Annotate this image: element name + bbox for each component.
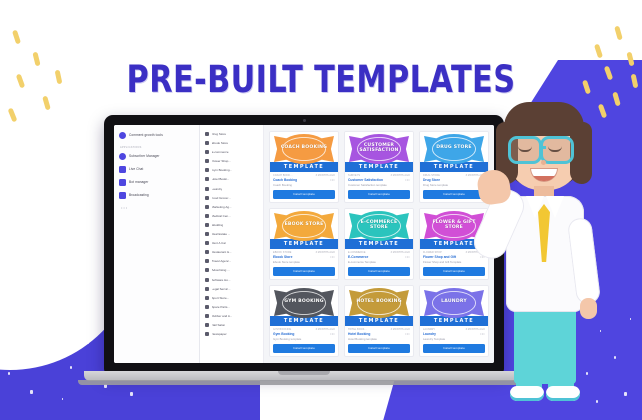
category-item[interactable]: Software Ho... [205, 278, 259, 282]
user-circle-icon [119, 153, 126, 160]
mascot-nose [541, 160, 546, 165]
category-thumb-icon [205, 323, 209, 327]
install-template-button[interactable]: Install template [348, 267, 410, 275]
card-category: EBOOK STORE [273, 251, 291, 254]
category-item[interactable]: Nail Salon [205, 323, 259, 327]
category-item[interactable]: Gym Booking... [205, 168, 259, 172]
sidebar-item-label: Live Chat [129, 168, 143, 171]
mascot-leg-left [516, 332, 542, 394]
category-item[interactable]: Wedding [205, 223, 259, 227]
category-thumb-icon [205, 196, 209, 200]
category-label: Drug Store [212, 132, 227, 136]
category-label: Laundry [212, 187, 223, 191]
webcam-icon [303, 119, 306, 122]
card-category: GYM BOOKING [273, 328, 291, 331]
category-label: Medical Cen... [212, 214, 231, 218]
ribbon-title: E-COMMERCE STORE [351, 221, 407, 231]
card-category: FLOWER SHOP [423, 251, 442, 254]
category-item[interactable]: Marketing Ag... [205, 205, 259, 209]
template-ribbon: E-COMMERCE STORE [345, 209, 413, 239]
confetti-speck [58, 318, 60, 321]
category-item[interactable]: Legal Servic... [205, 287, 259, 291]
template-ribbon: GYM BOOKING [270, 286, 338, 316]
card-category: E-COMMERCE [348, 251, 366, 254]
template-ribbon: HOTEL BOOKING [345, 286, 413, 316]
mascot-mouth [530, 168, 558, 182]
confetti-speck [46, 304, 48, 307]
mascot-shoe-left [510, 386, 544, 401]
card-timestamp: 3 MONTHS AGO [391, 328, 410, 331]
category-thumb-icon [205, 141, 209, 145]
category-item[interactable]: Hotel Booki... [205, 177, 259, 181]
robot-icon [119, 179, 126, 186]
template-card[interactable]: CUSTOMER SATISFACTIONTEMPLATESURVEYS3 MO… [344, 131, 414, 203]
category-label: Food Grocer... [212, 196, 231, 200]
broadcast-icon [119, 192, 126, 199]
install-template-button[interactable]: Install template [273, 344, 335, 352]
category-label: Newspaper [212, 332, 227, 336]
mascot-glasses-left [508, 136, 542, 164]
card-timestamp: 3 MONTHS AGO [316, 328, 335, 331]
category-label: Real Estate ... [212, 232, 231, 236]
ribbon-title: FLOWER & GIFT STORE [426, 221, 482, 231]
category-thumb-icon [205, 332, 209, 336]
confetti-speck [30, 390, 33, 394]
template-card-grid: COACH BOOKINGTEMPLATECOACH BOOK...3 MONT… [264, 125, 494, 363]
category-label: Ebook Store [212, 141, 229, 145]
card-subtitle: Ebook Store template [270, 259, 338, 267]
category-label: Gym Booking... [212, 168, 233, 172]
category-thumb-icon [205, 223, 209, 227]
install-template-button[interactable]: Install template [273, 190, 335, 198]
confetti-speck [40, 352, 42, 355]
category-item[interactable]: Food Grocer... [205, 196, 259, 200]
sidebar-item-0[interactable]: Subscriber Manager [119, 153, 194, 160]
category-thumb-icon [205, 159, 209, 163]
category-label: Wedding [212, 223, 224, 227]
template-gallery-app: Comment growth tools APPLICATIONS Subscr… [114, 125, 494, 363]
confetti-speck [18, 330, 21, 334]
category-thumb-icon [205, 305, 209, 309]
sidebar-item-label: Subscriber Manager [129, 155, 160, 158]
laptop-base-notch [278, 371, 330, 375]
install-template-button[interactable]: Install template [348, 190, 410, 198]
ribbon-title: LAUNDRY [441, 300, 467, 305]
category-thumb-icon [205, 250, 209, 254]
confetti-speck [624, 392, 627, 396]
template-ribbon: EBOOK STORE [270, 209, 338, 239]
template-card[interactable]: E-COMMERCE STORETEMPLATEE-COMMERCE3 MONT… [344, 208, 414, 280]
confetti-speck [86, 340, 89, 344]
laptop-screen: Comment growth tools APPLICATIONS Subscr… [114, 125, 494, 363]
card-category: DRUG STORE [423, 174, 440, 177]
confetti-speck [130, 392, 133, 396]
category-label: Spare Parts... [212, 305, 230, 309]
confetti-speck [62, 398, 63, 400]
category-thumb-icon [205, 232, 209, 236]
template-card[interactable]: HOTEL BOOKINGTEMPLATEHOTEL BOOK...3 MONT… [344, 285, 414, 357]
ribbon-title: HOTEL BOOKING [356, 300, 401, 305]
promo-stage: PRE-BUILT TEMPLATES Comment growth tools… [0, 0, 642, 420]
category-label: Legal Servic... [212, 287, 231, 291]
category-label: Travel Agenc... [212, 259, 232, 263]
category-thumb-icon [205, 150, 209, 154]
card-subtitle: Hotel Booking template [345, 336, 413, 344]
category-item[interactable]: Rent A Car [205, 241, 259, 245]
category-thumb-icon [205, 259, 209, 263]
ribbon-title: CUSTOMER SATISFACTION [351, 144, 407, 154]
category-label: E-commerce [212, 150, 229, 154]
mascot-shoe-right [546, 386, 580, 401]
template-card[interactable]: GYM BOOKINGTEMPLATEGYM BOOKING3 MONTHS A… [269, 285, 339, 357]
category-item[interactable]: Newspaper [205, 332, 259, 336]
install-template-button[interactable]: Install template [273, 267, 335, 275]
mascot-leg-right [548, 332, 574, 394]
card-category: COACH BOOK... [273, 174, 293, 177]
card-timestamp: 3 MONTHS AGO [316, 174, 335, 177]
category-label: Software Ho... [212, 278, 231, 282]
template-ribbon: CUSTOMER SATISFACTION [345, 132, 413, 162]
confetti-speck [12, 300, 14, 303]
category-label: Rubber and A... [212, 314, 233, 318]
ribbon-title: EBOOK STORE [285, 223, 324, 228]
card-category: HOTEL BOOK... [348, 328, 367, 331]
category-item[interactable]: Medical Cen... [205, 214, 259, 218]
template-card[interactable]: COACH BOOKINGTEMPLATECOACH BOOK...3 MONT… [269, 131, 339, 203]
chat-icon [119, 166, 126, 173]
template-ribbon: COACH BOOKING [270, 132, 338, 162]
category-thumb-icon [205, 177, 209, 181]
card-subtitle: E-commerce Template [345, 259, 413, 267]
category-item[interactable]: Flower Shop... [205, 159, 259, 163]
mascot-character [468, 92, 618, 402]
category-thumb-icon [205, 278, 209, 282]
card-subtitle: Gym Booking template [270, 336, 338, 344]
card-timestamp: 3 MONTHS AGO [391, 174, 410, 177]
sidebar-item-1[interactable]: Live Chat [119, 166, 194, 173]
category-label: Marketing Ag... [212, 205, 232, 209]
category-thumb-icon [205, 214, 209, 218]
card-timestamp: 3 MONTHS AGO [391, 251, 410, 254]
category-item[interactable]: E-commerce [205, 150, 259, 154]
sidebar-more-icon[interactable]: ••• [121, 205, 194, 210]
mascot-glasses-bridge [540, 146, 546, 149]
category-item[interactable]: Sport Store... [205, 296, 259, 300]
category-item[interactable]: Restaurant &... [205, 250, 259, 254]
category-thumb-icon [205, 205, 209, 209]
category-thumb-icon [205, 296, 209, 300]
category-label: Rent A Car [212, 241, 227, 245]
install-template-button[interactable]: Install template [348, 344, 410, 352]
laptop-base-shadow [78, 380, 530, 385]
category-thumb-icon [205, 132, 209, 136]
category-thumb-icon [205, 187, 209, 191]
category-item[interactable]: Real Estate ... [205, 232, 259, 236]
ribbon-title: DRUG STORE [436, 146, 471, 151]
ribbon-title: GYM BOOKING [284, 300, 324, 305]
card-timestamp: 3 MONTHS AGO [316, 251, 335, 254]
confetti-speck [630, 318, 631, 320]
category-thumb-icon [205, 241, 209, 245]
mascot-hand-right [580, 298, 597, 319]
category-thumb-icon [205, 314, 209, 318]
card-subtitle: Coach Booking [270, 182, 338, 190]
sidebar-brand[interactable]: Comment growth tools [119, 132, 194, 139]
sidebar-item-label: Broadcasting [129, 194, 149, 197]
growth-tools-icon [119, 132, 126, 139]
category-item[interactable]: Travel Agenc... [205, 259, 259, 263]
category-label: Advertising ... [212, 268, 230, 272]
confetti-speck [70, 366, 72, 369]
category-item[interactable]: Advertising ... [205, 268, 259, 272]
sidebar-brand-label: Comment growth tools [129, 134, 163, 137]
card-category: LAUNDRY [423, 328, 435, 331]
laptop-device: Comment growth tools APPLICATIONS Subscr… [104, 115, 504, 387]
ribbon-title: COACH BOOKING [281, 146, 327, 151]
template-card[interactable]: EBOOK STORETEMPLATEEBOOK STORE3 MONTHS A… [269, 208, 339, 280]
category-list[interactable]: Drug StoreEbook StoreE-commerceFlower Sh… [200, 125, 264, 363]
category-label: Restaurant &... [212, 250, 232, 254]
category-label: Sport Store... [212, 296, 230, 300]
category-item[interactable]: Rubber and A... [205, 314, 259, 318]
card-subtitle: Customer Satisfaction template [345, 182, 413, 190]
category-item[interactable]: Laundry [205, 187, 259, 191]
sidebar-section-label: APPLICATIONS [120, 146, 194, 149]
confetti-speck [96, 310, 98, 313]
category-item[interactable]: Ebook Store [205, 141, 259, 145]
sidebar-item-2[interactable]: Bot manager [119, 179, 194, 186]
category-item[interactable]: Spare Parts... [205, 305, 259, 309]
category-thumb-icon [205, 168, 209, 172]
category-item[interactable]: Drug Store [205, 132, 259, 136]
category-label: Nail Salon [212, 323, 226, 327]
category-thumb-icon [205, 287, 209, 291]
category-label: Flower Shop... [212, 159, 231, 163]
category-label: Hotel Booki... [212, 177, 230, 181]
sidebar-item-label: Bot manager [129, 181, 148, 184]
app-sidebar: Comment growth tools APPLICATIONS Subscr… [114, 125, 200, 363]
category-thumb-icon [205, 268, 209, 272]
card-category: SURVEYS [348, 174, 360, 177]
sidebar-item-3[interactable]: Broadcasting [119, 192, 194, 199]
laptop-lid: Comment growth tools APPLICATIONS Subscr… [104, 115, 504, 373]
confetti-speck [8, 372, 10, 375]
